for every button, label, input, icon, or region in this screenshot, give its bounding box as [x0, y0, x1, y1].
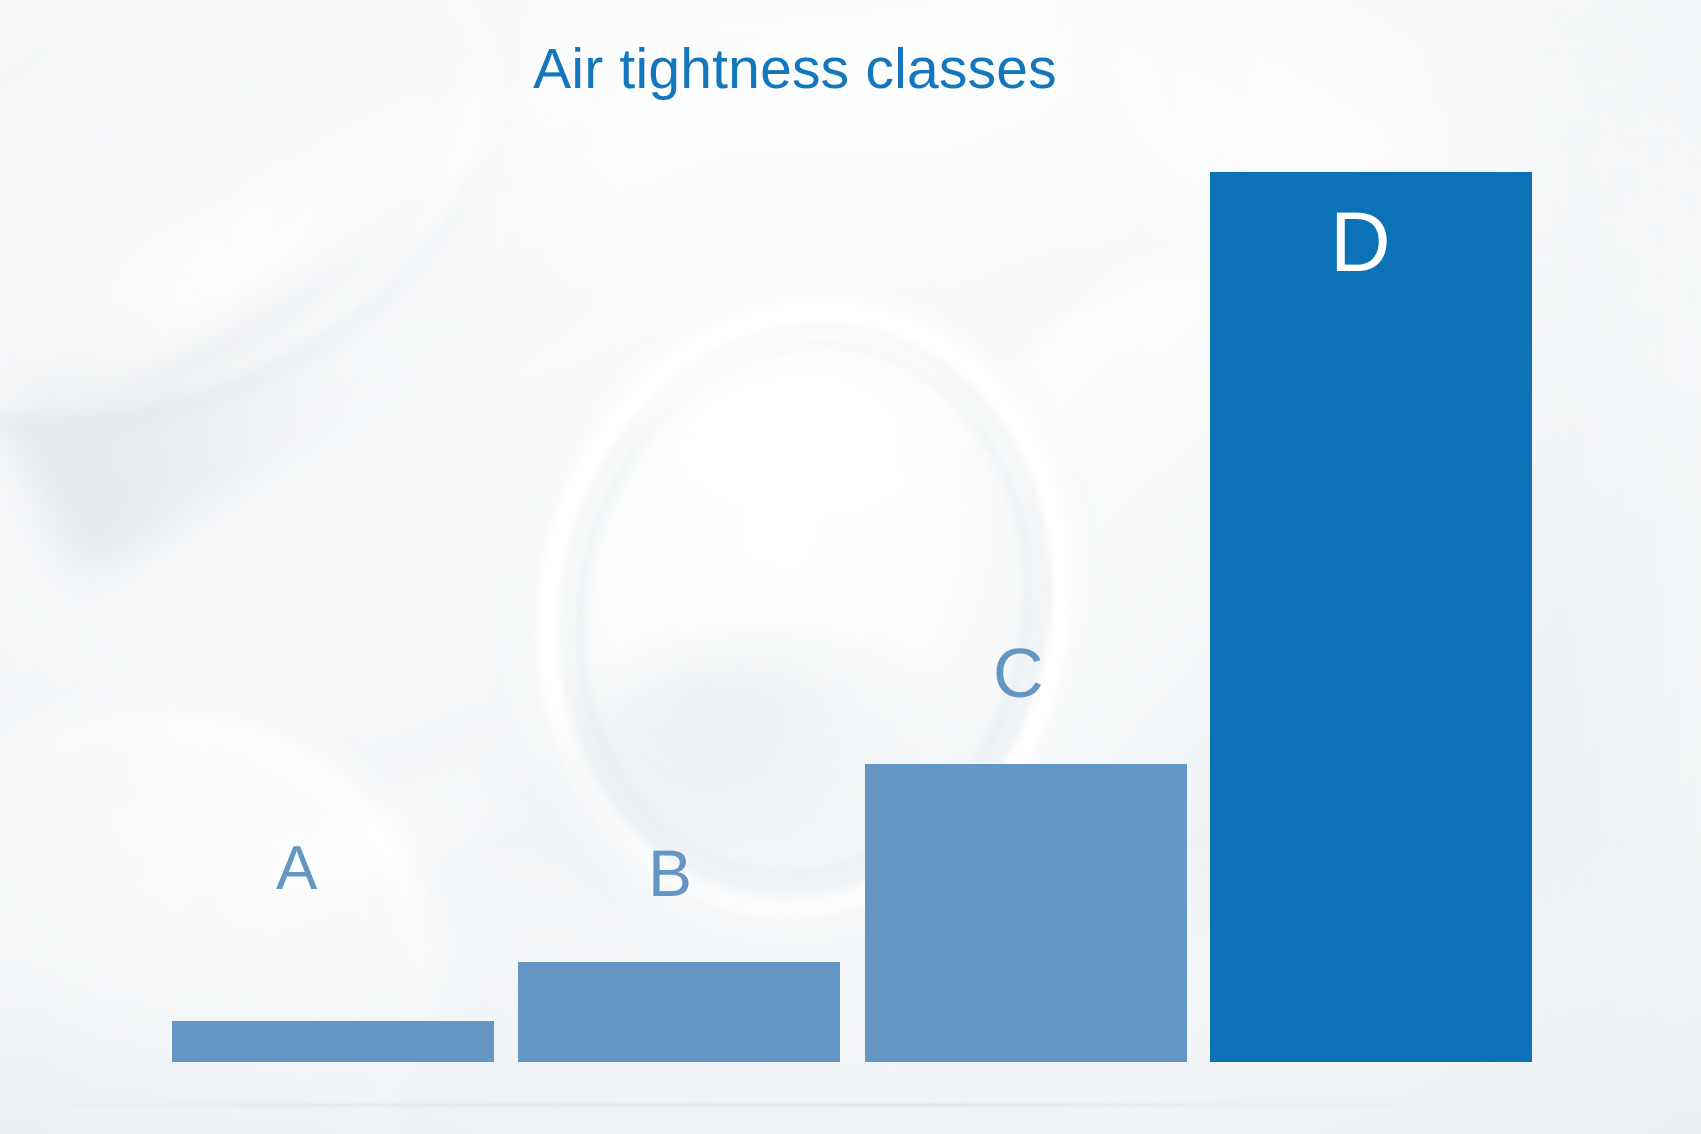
bar-c[interactable]	[865, 764, 1187, 1062]
slide-canvas: Air tightness classes ABCD	[0, 0, 1701, 1134]
bar-label-d: D	[1330, 200, 1391, 284]
bar-label-c: C	[993, 638, 1044, 708]
bar-label-b: B	[648, 840, 692, 906]
bar-d[interactable]	[1210, 172, 1532, 1062]
chart-title: Air tightness classes	[0, 40, 1590, 100]
bar-b[interactable]	[518, 962, 840, 1062]
bar-chart: Air tightness classes ABCD	[0, 0, 1701, 1134]
bar-a[interactable]	[172, 1021, 494, 1062]
bar-label-a: A	[276, 838, 317, 900]
